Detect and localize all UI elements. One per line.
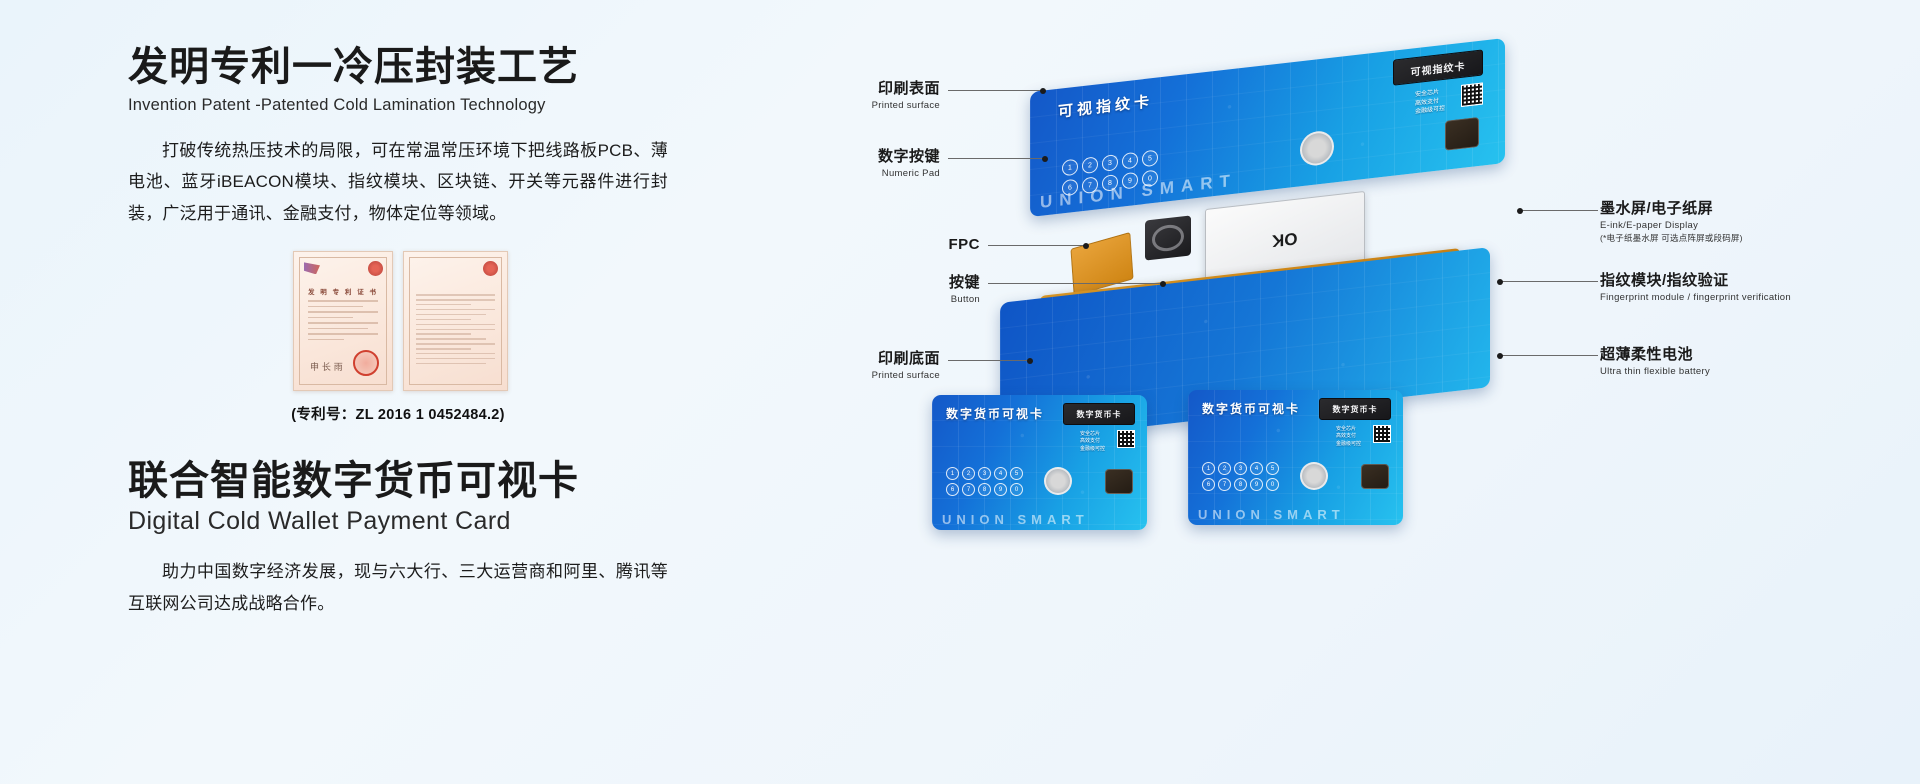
key: 9 (1250, 478, 1263, 491)
left-content-column: 发明专利一冷压封装工艺 Invention Patent -Patented C… (128, 44, 828, 619)
section-wallet: 联合智能数字货币可视卡 Digital Cold Wallet Payment … (128, 458, 828, 619)
callout-fpc: FPC (870, 236, 980, 254)
section-patent: 发明专利一冷压封装工艺 Invention Patent -Patented C… (128, 44, 828, 424)
key: 5 (1142, 149, 1158, 167)
card-display-screen: 数字货币卡 (1319, 398, 1391, 420)
callout-label-en: Printed surface (820, 370, 940, 381)
leader-line (1520, 210, 1598, 211)
card-footer-brand: UNION SMART (1198, 507, 1397, 522)
mini-card-right: 数字货币可视卡 数字货币卡 安全芯片高效支付金融级可控 1 2 3 4 5 6 … (1188, 390, 1403, 525)
key: 3 (1234, 462, 1247, 475)
leader-line (948, 158, 1045, 159)
key: 2 (1218, 462, 1231, 475)
callout-flexible-battery: 超薄柔性电池 Ultra thin flexible battery (1600, 346, 1880, 377)
leader-line (948, 90, 1043, 91)
key: 2 (1082, 156, 1098, 174)
callout-button: 按键 Button (870, 274, 980, 305)
card-display-text: 可视指纹卡 (1411, 57, 1466, 78)
certificate-text-lines (416, 294, 495, 367)
card-brand-label: 数字货币可视卡 (946, 405, 1044, 422)
callout-printed-surface-top: 印刷表面 Printed surface (820, 80, 940, 111)
card-brand-label: 数字货币可视卡 (1202, 400, 1300, 417)
certificate-signature: 申 长 雨 (310, 360, 343, 373)
card-footer-brand: UNION SMART (942, 512, 1141, 527)
callout-label-en: E-ink/E-paper Display (1600, 220, 1880, 231)
card-numeric-keypad: 1 2 3 4 5 6 7 8 9 0 (1202, 462, 1279, 491)
leader-line (988, 245, 1086, 246)
certificate-front: 发 明 专 利 证 书 申 长 雨 (293, 251, 393, 391)
card-top-layer: 可视指纹卡 可视指纹卡 安全芯片高效支付金融级可控 1 2 3 4 5 6 7 … (1030, 38, 1505, 217)
key: 1 (946, 467, 959, 480)
key: 8 (1234, 478, 1247, 491)
key: 0 (1266, 478, 1279, 491)
key: 5 (1266, 462, 1279, 475)
epaper-text: OK (1272, 228, 1298, 251)
patent-title-en: Invention Patent -Patented Cold Laminati… (128, 96, 828, 115)
key: 3 (1102, 154, 1118, 172)
qr-code-icon (1461, 82, 1483, 107)
key: 0 (1010, 483, 1023, 496)
callout-label-cn: 墨水屏/电子纸屏 (1600, 200, 1880, 218)
key: 1 (1202, 462, 1215, 475)
callout-label-cn: 按键 (870, 274, 980, 292)
callout-label-note: (*电子纸墨水屏 可选点阵屏或段码屏) (1600, 232, 1880, 244)
function-key-icon (1300, 462, 1328, 490)
key: 4 (1250, 462, 1263, 475)
patent-certificate-images: 发 明 专 利 证 书 申 长 雨 (293, 251, 828, 391)
callout-label-en: Numeric Pad (820, 168, 940, 179)
wallet-paragraph: 助力中国数字经济发展，现与六大行、三大运营商和阿里、腾讯等互联网公司达成战略合作… (128, 556, 668, 619)
card-display-screen: 数字货币卡 (1063, 403, 1135, 425)
card-sub-text: 安全芯片高效支付金融级可控 (1336, 426, 1361, 448)
key: 9 (994, 483, 1007, 496)
patent-number: (专利号：ZL 2016 1 0452484.2) (188, 403, 608, 424)
leader-line (1500, 281, 1598, 282)
key: 4 (994, 467, 1007, 480)
leader-line (948, 360, 1030, 361)
qr-code-icon (1117, 430, 1135, 448)
mini-card-left: 数字货币可视卡 数字货币卡 安全芯片高效支付金融级可控 1 2 3 4 5 6 … (932, 395, 1147, 530)
callout-label-en: Ultra thin flexible battery (1600, 366, 1880, 377)
callout-printed-surface-bottom: 印刷底面 Printed surface (820, 350, 940, 381)
card-display-text: 数字货币卡 (1333, 404, 1378, 415)
wallet-title-en: Digital Cold Wallet Payment Card (128, 507, 828, 536)
key: 3 (978, 467, 991, 480)
product-feature-page: 发明专利一冷压封装工艺 Invention Patent -Patented C… (0, 0, 1920, 784)
wallet-title-cn: 联合智能数字货币可视卡 (128, 458, 828, 504)
patent-paragraph: 打破传统热压技术的局限，可在常温常压环境下把线路板PCB、薄电池、蓝牙iBEAC… (128, 135, 668, 229)
callout-fingerprint-module: 指纹模块/指纹验证 Fingerprint module / fingerpri… (1600, 272, 1900, 303)
card-display-text: 数字货币卡 (1077, 409, 1122, 420)
callout-label-en: Fingerprint module / fingerprint verific… (1600, 292, 1900, 303)
card-sub-text: 安全芯片高效支付金融级可控 (1080, 431, 1105, 453)
certificate-back (403, 251, 508, 391)
fingerprint-sensor-icon (1361, 464, 1389, 489)
qr-code-icon (1373, 425, 1391, 443)
key: 2 (962, 467, 975, 480)
key: 6 (1202, 478, 1215, 491)
key: 5 (1010, 467, 1023, 480)
card-numeric-keypad: 1 2 3 4 5 6 7 8 9 0 (946, 467, 1023, 496)
antenna-coil-module (1145, 215, 1191, 260)
leader-line (1500, 355, 1598, 356)
certificate-title-text: 发 明 专 利 证 书 (294, 286, 392, 296)
callout-label-cn: FPC (870, 236, 980, 254)
callout-label-cn: 印刷底面 (820, 350, 940, 368)
key: 8 (978, 483, 991, 496)
callout-label-cn: 超薄柔性电池 (1600, 346, 1880, 364)
callout-label-cn: 指纹模块/指纹验证 (1600, 272, 1900, 290)
key: 7 (962, 483, 975, 496)
key: 1 (1062, 159, 1078, 177)
callout-numeric-pad: 数字按键 Numeric Pad (820, 148, 940, 179)
callout-label-cn: 印刷表面 (820, 80, 940, 98)
callout-eink-display: 墨水屏/电子纸屏 E-ink/E-paper Display (*电子纸墨水屏 … (1600, 200, 1880, 244)
fingerprint-sensor-icon (1105, 469, 1133, 494)
callout-label-en: Printed surface (820, 100, 940, 111)
key: 7 (1218, 478, 1231, 491)
patent-title-cn: 发明专利一冷压封装工艺 (128, 44, 828, 90)
key: 6 (946, 483, 959, 496)
callout-label-cn: 数字按键 (820, 148, 940, 166)
key: 4 (1122, 152, 1138, 170)
leader-line (988, 283, 1163, 284)
card-sub-text: 安全芯片高效支付金融级可控 (1415, 88, 1445, 117)
callout-label-en: Button (870, 294, 980, 305)
function-key-icon (1044, 467, 1072, 495)
product-diagram-column: 可视指纹卡 可视指纹卡 安全芯片高效支付金融级可控 1 2 3 4 5 6 7 … (900, 40, 1900, 760)
certificate-text-lines (308, 300, 378, 344)
